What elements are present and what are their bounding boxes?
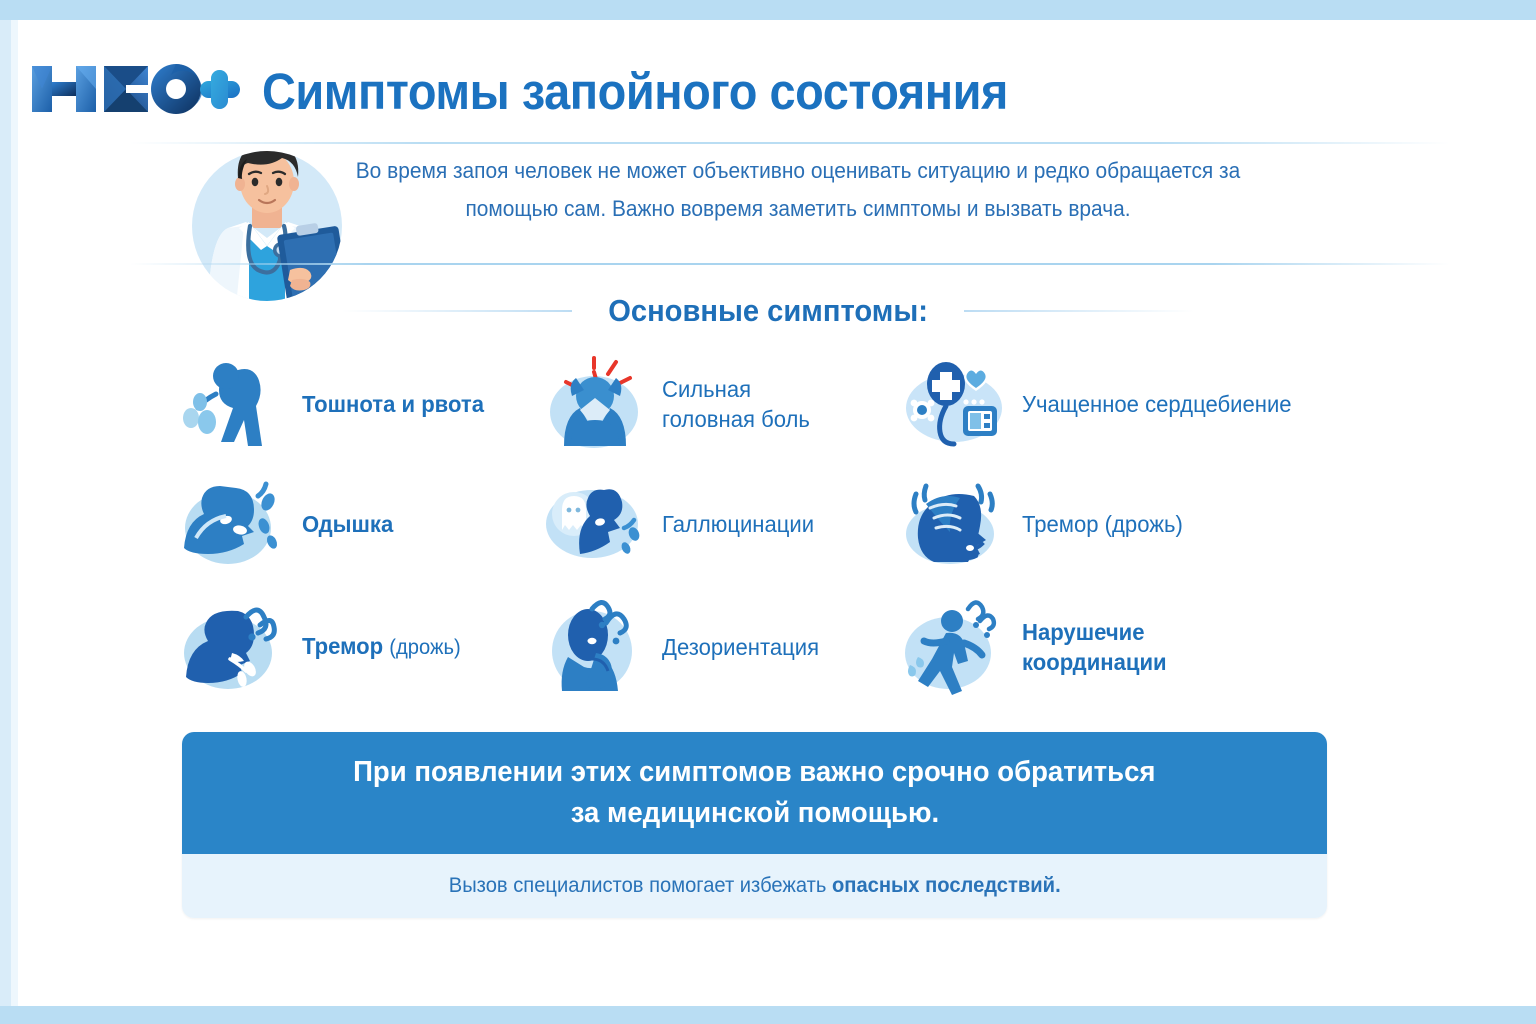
symptom-label: Тошнота и рвота: [302, 389, 484, 419]
header: Симптомы запойного состояния: [0, 20, 1536, 118]
symptom-label-text: Тремор: [302, 633, 383, 659]
hallucination-icon: [540, 474, 648, 574]
symptom-item: Сильная головная боль: [540, 344, 900, 464]
symptom-label-text: Нарушечие: [1022, 619, 1145, 645]
symptom-label-text: Одышка: [302, 511, 393, 537]
symptom-label-text: Дезориентация: [662, 634, 819, 660]
callout-sub-prefix: Вызов специалистов помогает избежать: [449, 874, 832, 897]
symptom-label-text: Галлюцинации: [662, 511, 814, 537]
vomiting-icon: [180, 354, 288, 454]
intro-section: Во время запоя человек не может объектив…: [0, 132, 1536, 284]
callout-line-2: за медицинской помощью.: [570, 793, 938, 834]
shortness-breath-icon: [180, 474, 288, 574]
symptom-label: Тремор (дрожь): [302, 631, 461, 663]
tremor-sweat-icon: [180, 597, 288, 697]
symptom-label-text-2: координации: [1022, 649, 1167, 675]
callout-sub-emphasis: опасных последствий.: [832, 874, 1061, 897]
symptom-label: Галлюцинации: [662, 509, 814, 539]
symptom-item: Тремор (дрожь): [180, 584, 540, 709]
symptom-label: Нарушечие координации: [1022, 617, 1167, 677]
symptom-item: Учащенное сердцебиение: [900, 344, 1330, 464]
section-title: Основные симптомы:: [608, 293, 928, 329]
symptom-label: Дезориентация: [662, 632, 819, 662]
page-title: Симптомы запойного состояния: [262, 62, 1008, 121]
coordination-icon: [900, 597, 1008, 697]
tremor-head-icon: [900, 474, 1008, 574]
symptom-label: Учащенное сердцебиение: [1022, 389, 1292, 419]
callout-box: При появлении этих симптомов важно срочн…: [182, 732, 1327, 918]
callout-secondary: Вызов специалистов помогает избежать опа…: [182, 854, 1327, 918]
neo-plus-logo: [30, 58, 242, 120]
bottom-band: [0, 1006, 1536, 1024]
headache-icon: [540, 354, 648, 454]
infographic-page: Симптомы запойного состояния: [0, 0, 1536, 1024]
callout-line-1: При появлении этих симптомов важно срочн…: [353, 752, 1155, 793]
intro-divider: [130, 263, 1450, 265]
symptom-item: Галлюцинации: [540, 464, 900, 584]
symptom-item: Одышка: [180, 464, 540, 584]
symptom-label-text: Учащенное сердцебиение: [1022, 391, 1292, 417]
symptom-label-text: Сильная: [662, 376, 751, 402]
symptom-label-text: Тошнота и рвота: [302, 391, 484, 417]
symptoms-grid: Тошнота и рвота: [180, 344, 1360, 714]
disorientation-icon: [540, 597, 648, 697]
symptom-label: Тремор (дрожь): [1022, 509, 1183, 539]
symptom-item: Нарушечие координации: [900, 584, 1330, 709]
symptoms-section-header: Основные симптомы:: [0, 288, 1536, 334]
symptom-item: Дезориентация: [540, 584, 900, 709]
section-rule-right: [964, 310, 1194, 312]
section-rule-left: [342, 310, 572, 312]
intro-line-1: Во время запоя человек не может объектив…: [356, 158, 1213, 183]
symptom-item: Тремор (дрожь): [900, 464, 1330, 584]
top-band: [0, 0, 1536, 20]
symptom-label: Одышка: [302, 509, 393, 539]
symptom-label-suffix: (дрожь): [389, 636, 460, 659]
symptom-item: Тошнота и рвота: [180, 344, 540, 464]
heartbeat-icon: [900, 354, 1008, 454]
doctor-illustration: [178, 138, 356, 306]
callout-sub-line: Вызов специалистов помогает избежать опа…: [449, 874, 1061, 898]
symptom-label-text: Тремор (дрожь): [1022, 511, 1183, 537]
intro-text: Во время запоя человек не может объектив…: [342, 152, 1254, 228]
callout-primary: При появлении этих симптомов важно срочн…: [182, 732, 1327, 854]
symptom-label: Сильная головная боль: [662, 374, 810, 434]
symptom-label-text-2: головная боль: [662, 406, 810, 432]
